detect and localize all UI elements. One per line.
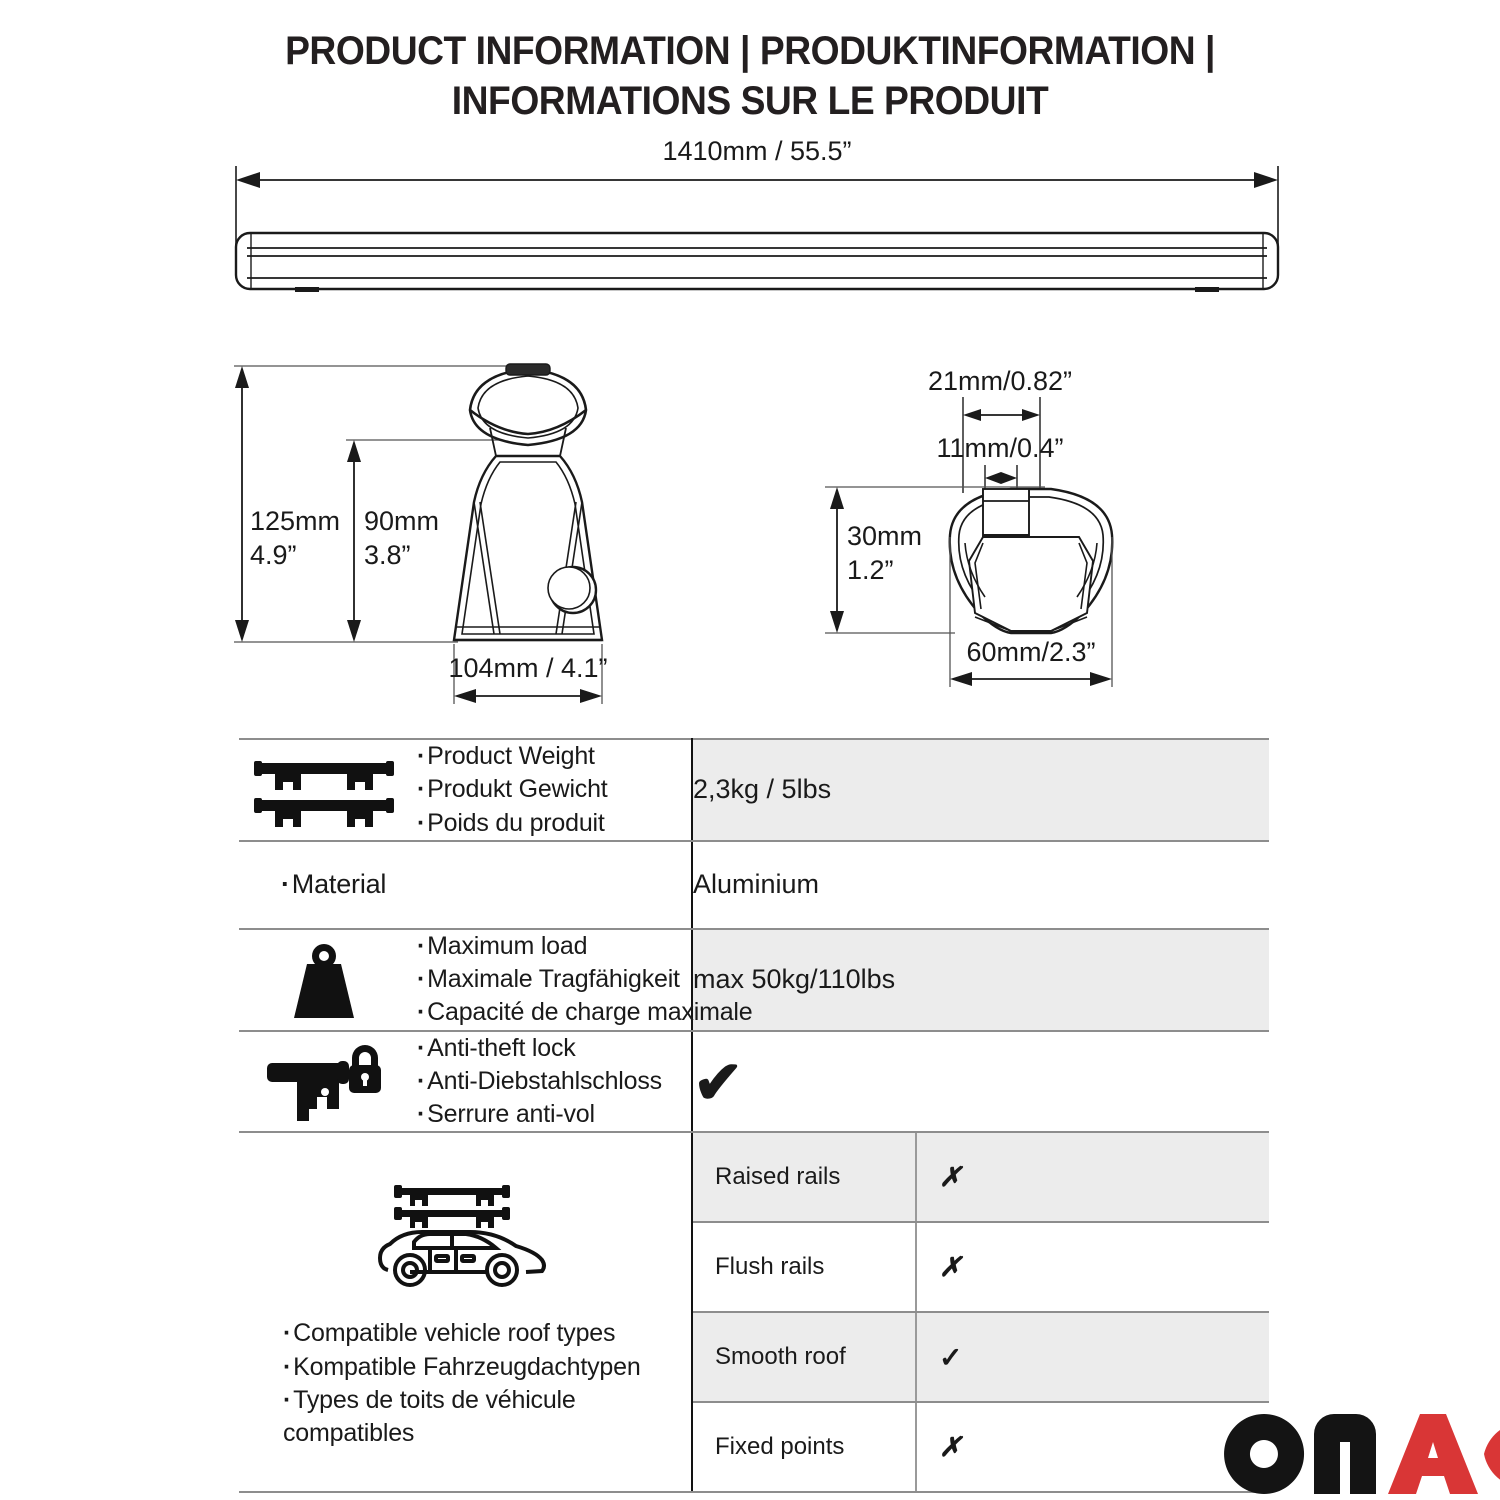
roof-type-name: Raised rails bbox=[693, 1133, 916, 1222]
label-en: Compatible vehicle roof types bbox=[283, 1317, 641, 1350]
foot-total-height-line2: 4.9” bbox=[250, 540, 297, 570]
table-row: Maximum load Maximale Tragfähigkeit Capa… bbox=[239, 929, 1269, 1031]
anti-theft-label-cell: Anti-theft lock Anti-Diebstahlschloss Se… bbox=[239, 1031, 692, 1133]
foot-width-dimension-text: 104mm / 4.1” bbox=[448, 653, 607, 683]
roof-type-mark: ✓ bbox=[916, 1312, 1269, 1402]
slot-inner-dimension-text: 11mm/0.4” bbox=[936, 433, 1063, 463]
roof-types-labels: Compatible vehicle roof types Kompatible… bbox=[239, 1317, 641, 1450]
weight-labels: Product Weight Produkt Gewicht Poids du … bbox=[417, 740, 608, 840]
profile-width-dimension-text: 60mm/2.3” bbox=[966, 637, 1095, 667]
roof-bars-icon bbox=[239, 751, 409, 829]
subtable-row: Fixed points ✗ bbox=[693, 1402, 1269, 1491]
max-load-label-cell: Maximum load Maximale Tragfähigkeit Capa… bbox=[239, 929, 692, 1031]
label-material: Material bbox=[281, 867, 691, 903]
slot-outer-dimension-text: 21mm/0.82” bbox=[928, 366, 1072, 396]
weight-icon bbox=[239, 938, 409, 1022]
anti-theft-labels: Anti-theft lock Anti-Diebstahlschloss Se… bbox=[417, 1032, 662, 1132]
foot-total-height-line1: 125mm bbox=[250, 506, 340, 536]
weight-value: 2,3kg / 5lbs bbox=[692, 739, 1269, 841]
car-with-roof-bars-icon bbox=[370, 1174, 560, 1301]
roof-type-name: Fixed points bbox=[693, 1402, 916, 1491]
table-row: Compatible vehicle roof types Kompatible… bbox=[239, 1132, 1269, 1492]
title-line-2: INFORMATIONS SUR LE PRODUIT bbox=[53, 76, 1448, 126]
mounting-foot-drawing: 125mm 4.9” 90mm 3.8” bbox=[228, 352, 708, 712]
foot-inner-height-line2: 3.8” bbox=[364, 540, 411, 570]
title-line-1: PRODUCT INFORMATION | PRODUKTINFORMATION… bbox=[53, 26, 1448, 76]
bar-cross-section-drawing: 21mm/0.82” 11mm/0.4” 30mm 1.2” bbox=[815, 365, 1285, 700]
table-row: Anti-theft lock Anti-Diebstahlschloss Se… bbox=[239, 1031, 1269, 1133]
label-fr: Serrure anti-vol bbox=[417, 1098, 662, 1131]
roof-type-name: Flush rails bbox=[693, 1222, 916, 1312]
omac-logo bbox=[1222, 1412, 1500, 1496]
specification-table: Product Weight Produkt Gewicht Poids du … bbox=[239, 738, 1269, 1493]
page-title: PRODUCT INFORMATION | PRODUKTINFORMATION… bbox=[53, 26, 1448, 126]
label-de: Kompatible Fahrzeugdachtypen bbox=[283, 1351, 641, 1384]
logo-om-black bbox=[1224, 1414, 1376, 1494]
roof-types-value-cell: Raised rails ✗ Flush rails ✗ Smooth roof… bbox=[692, 1132, 1269, 1492]
table-row: Product Weight Produkt Gewicht Poids du … bbox=[239, 739, 1269, 841]
material-label-cell: Material bbox=[239, 841, 692, 929]
product-information-sheet: PRODUCT INFORMATION | PRODUKTINFORMATION… bbox=[0, 0, 1500, 1500]
roof-bar-side-view-drawing: 1410mm / 55.5” bbox=[215, 132, 1300, 322]
weight-label-cell: Product Weight Produkt Gewicht Poids du … bbox=[239, 739, 692, 841]
roof-type-mark: ✗ bbox=[916, 1402, 1269, 1491]
cross-icon: ✗ bbox=[939, 1252, 962, 1282]
label-de: Anti-Diebstahlschloss bbox=[417, 1065, 662, 1098]
label-en: Anti-theft lock bbox=[417, 1032, 662, 1065]
anti-theft-value: ✔ bbox=[692, 1031, 1269, 1133]
table-row: Material Aluminium bbox=[239, 841, 1269, 929]
subtable-row: Raised rails ✗ bbox=[693, 1133, 1269, 1222]
cross-icon: ✗ bbox=[939, 1432, 962, 1462]
roof-type-name: Smooth roof bbox=[693, 1312, 916, 1402]
cross-icon: ✗ bbox=[939, 1162, 962, 1192]
bar-length-dimension-text: 1410mm / 55.5” bbox=[662, 136, 851, 166]
roof-types-label-cell: Compatible vehicle roof types Kompatible… bbox=[239, 1132, 692, 1492]
label-fr-cont: compatibles bbox=[283, 1417, 641, 1450]
foot-inner-height-line1: 90mm bbox=[364, 506, 439, 536]
label-fr: Capacité de charge maximale bbox=[417, 996, 752, 1029]
label-en: Product Weight bbox=[417, 740, 608, 773]
roof-type-mark: ✗ bbox=[916, 1133, 1269, 1222]
lock-icon bbox=[239, 1039, 409, 1123]
profile-height-line1: 30mm bbox=[847, 521, 922, 551]
material-value: Aluminium bbox=[692, 841, 1269, 929]
label-de: Produkt Gewicht bbox=[417, 773, 608, 806]
subtable-row: Flush rails ✗ bbox=[693, 1222, 1269, 1312]
subtable-row: Smooth roof ✓ bbox=[693, 1312, 1269, 1402]
profile-height-line2: 1.2” bbox=[847, 555, 894, 585]
label-fr: Types de toits de véhicule bbox=[283, 1384, 641, 1417]
checkmark-icon: ✔ bbox=[693, 1053, 743, 1113]
label-en: Maximum load bbox=[417, 930, 752, 963]
check-icon: ✓ bbox=[939, 1342, 962, 1373]
max-load-value: max 50kg/110lbs bbox=[692, 929, 1269, 1031]
roof-types-subtable: Raised rails ✗ Flush rails ✗ Smooth roof… bbox=[693, 1133, 1269, 1491]
label-fr: Poids du produit bbox=[417, 807, 608, 840]
logo-ac-red bbox=[1388, 1414, 1500, 1494]
roof-type-mark: ✗ bbox=[916, 1222, 1269, 1312]
